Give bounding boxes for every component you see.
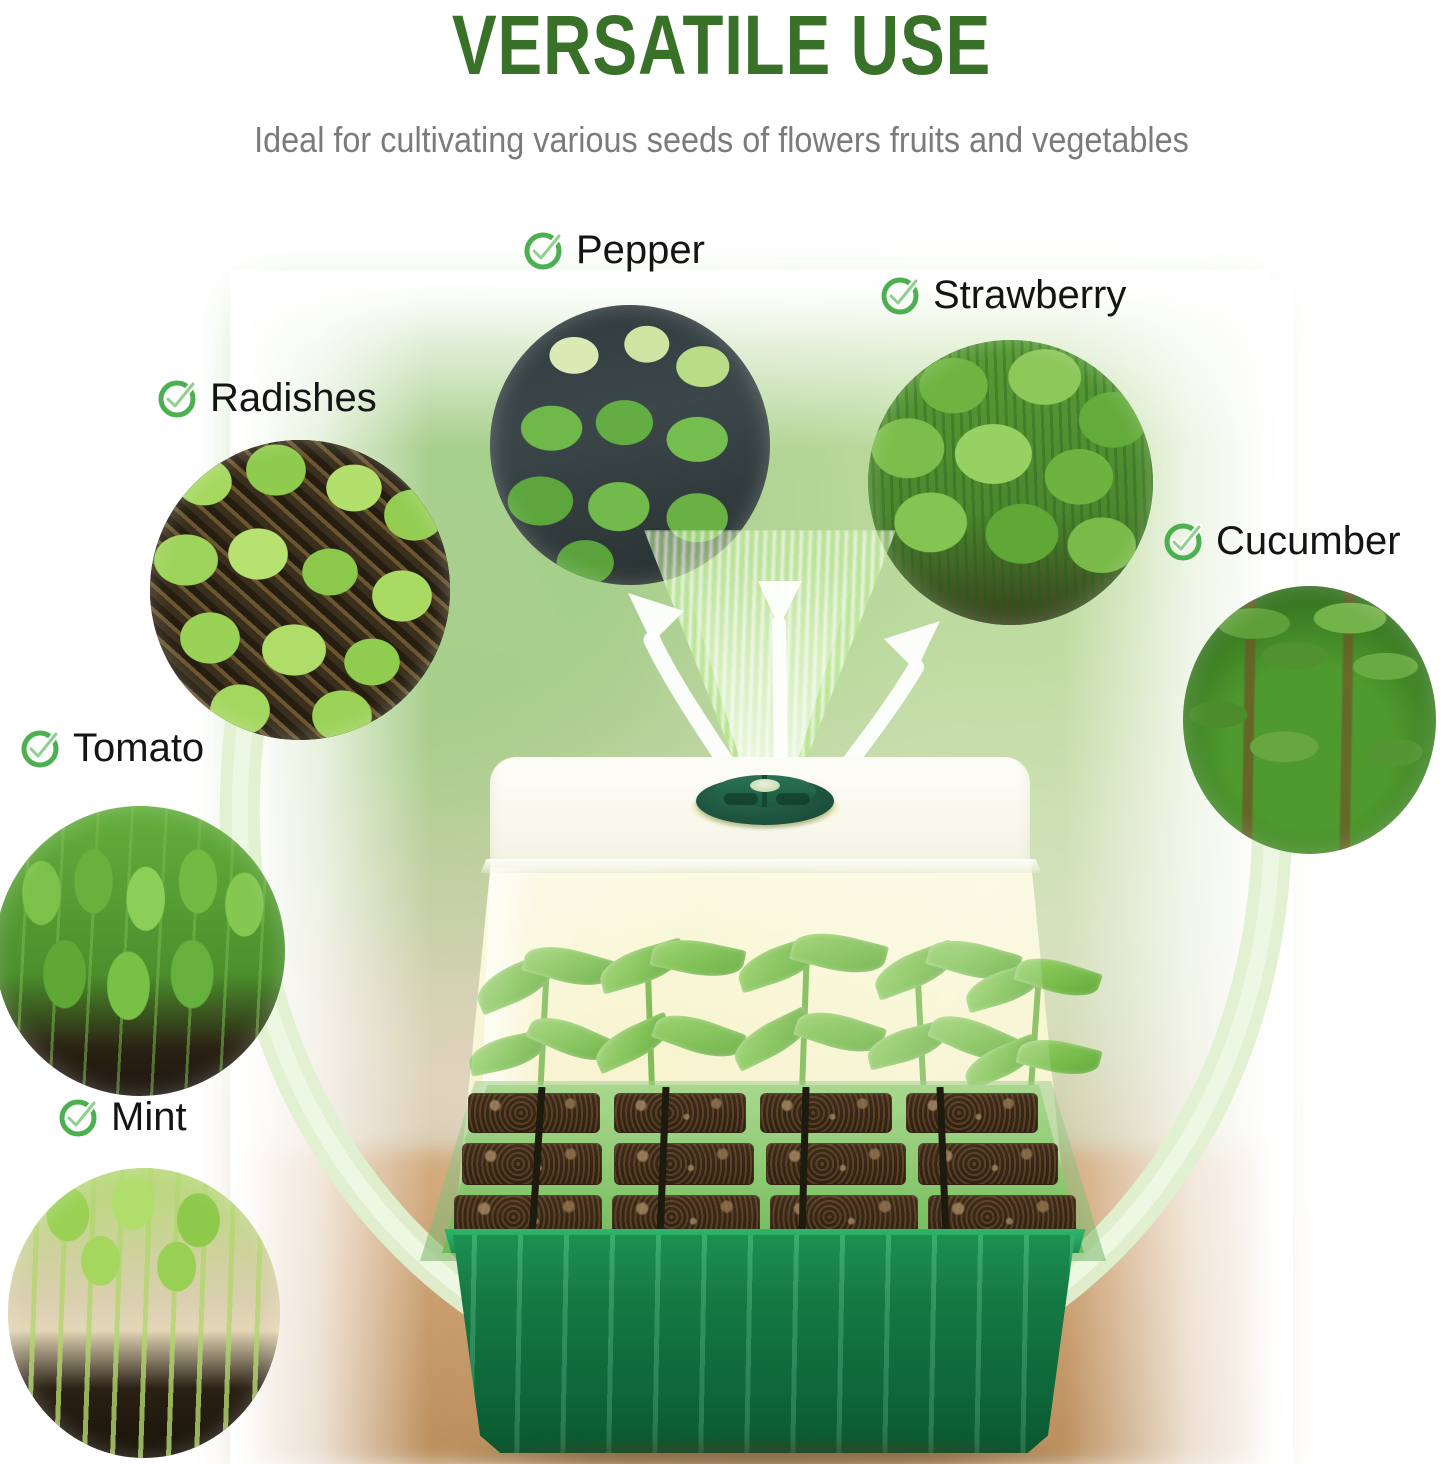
bubble-ring [0, 806, 285, 1096]
callout-radishes[interactable]: Radishes [157, 376, 377, 420]
bubble-ring [8, 1168, 280, 1458]
check-circle-icon [523, 229, 565, 271]
page-title: VERSATILE USE [144, 2, 1298, 88]
photo-bubble-radishes [150, 440, 450, 740]
check-circle-icon [58, 1096, 100, 1138]
photo-bubble-cucumber [1183, 586, 1436, 854]
vent-slot-right [776, 793, 810, 805]
seed-starter-tray-product [398, 735, 1128, 1464]
tray-base-ribs [426, 1235, 1102, 1453]
photo-bubble-mint [8, 1168, 280, 1458]
vent-slot-left [724, 793, 758, 805]
tray-drop-shadow [458, 1441, 1068, 1464]
callout-label: Mint [111, 1095, 187, 1139]
check-circle-icon [157, 377, 199, 419]
callout-label: Pepper [576, 228, 705, 272]
bubble-ring [150, 440, 450, 740]
infographic-canvas: VERSATILE USE Ideal for cultivating vari… [0, 0, 1443, 1464]
callout-mint[interactable]: Mint [58, 1095, 187, 1139]
callout-label: Tomato [73, 726, 204, 770]
humidity-dome-rim [456, 859, 1066, 873]
page-subtitle: Ideal for cultivating various seeds of f… [72, 118, 1371, 162]
callout-pepper[interactable]: Pepper [523, 228, 705, 272]
callout-strawberry[interactable]: Strawberry [880, 273, 1126, 317]
callout-label: Radishes [210, 376, 377, 420]
stems-through-soil [454, 1087, 1072, 1243]
vent-center-hole [750, 779, 780, 792]
check-circle-icon [1163, 520, 1205, 562]
callout-tomato[interactable]: Tomato [20, 726, 204, 770]
check-circle-icon [20, 727, 62, 769]
callout-label: Strawberry [933, 273, 1126, 317]
bubble-ring [1183, 586, 1436, 854]
callout-cucumber[interactable]: Cucumber [1163, 519, 1401, 563]
photo-bubble-tomato [0, 806, 285, 1096]
callout-label: Cucumber [1216, 519, 1401, 563]
check-circle-icon [880, 274, 922, 316]
